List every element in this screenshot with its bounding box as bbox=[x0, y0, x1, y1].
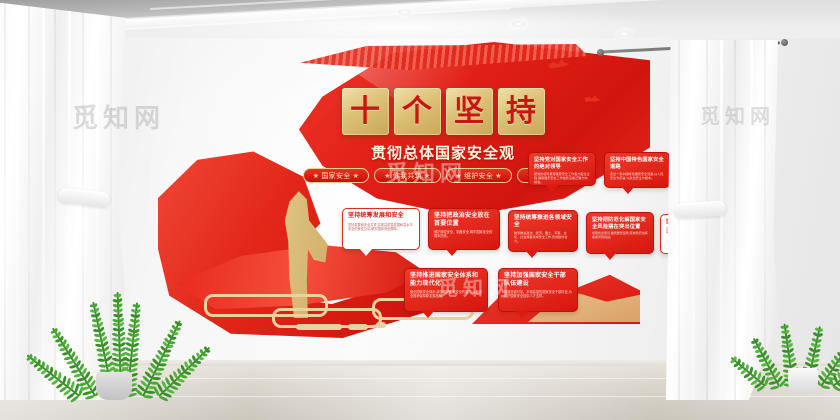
fern-leaf bbox=[811, 363, 818, 367]
fern-leaf bbox=[835, 364, 840, 368]
card-pointer bbox=[545, 184, 559, 192]
card-title: 坚持把政治安全放在首要位置 bbox=[434, 213, 494, 228]
fern-leaf bbox=[136, 304, 141, 309]
title-plaque-2: 个 bbox=[394, 88, 441, 135]
fern-leaf bbox=[178, 323, 183, 327]
fern-leaf bbox=[813, 353, 820, 357]
curtain-rod-finial bbox=[781, 39, 788, 46]
fern-leaf bbox=[749, 366, 753, 373]
adherence-card-9: 坚持推进国家安全体系和能力现代化 健全国家安全体系,增强维护国家安全的能力,以新… bbox=[404, 268, 488, 312]
title-plaque-4: 持 bbox=[498, 88, 545, 135]
fern-leaf bbox=[818, 333, 823, 337]
subtitle: 贯彻总体国家安全观 bbox=[334, 142, 552, 163]
card-body: 走出一条中国特色国家安全道路,以人民安全为宗旨,以政治安全为根本。 bbox=[610, 172, 664, 180]
card-title: 坚持统筹发展和安全 bbox=[348, 213, 414, 221]
fern-leaf bbox=[135, 313, 141, 318]
adherence-card-10: 坚持加强国家安全干部队伍建设 锻造忠诚可靠、本领高强的国家安全干部队伍,为维护国… bbox=[498, 268, 578, 312]
fern-leaf bbox=[741, 361, 745, 367]
card-title: 坚持推进国家安全体系和能力现代化 bbox=[410, 273, 482, 288]
fern-leaf bbox=[753, 369, 758, 377]
adherence-card-1: 坚持党对国家安全工作的绝对领导 把党的领导贯穿国家安全工作各方面全过程,确保国家… bbox=[528, 152, 596, 186]
adherence-card-6: 坚持统筹推进各领域安全 统筹推进政治、经济、国土、军事、文化、社会等各领域安全工… bbox=[508, 210, 578, 252]
fern-leaf bbox=[163, 354, 170, 357]
adherence-card-5: 坚持把政治安全放在首要位置 维护政权安全、制度安全,筑牢国家安全的根本防线。 bbox=[428, 208, 500, 250]
fern-leaf bbox=[33, 356, 37, 361]
badge-row: ★国家安全★ ★你我共筑★ ★维护安全★ ★人人有责★ bbox=[334, 168, 552, 183]
fern-leaf bbox=[206, 349, 211, 353]
fern-leaf bbox=[165, 350, 171, 353]
card-pointer bbox=[515, 310, 529, 318]
fern-leaf bbox=[172, 336, 178, 339]
adherence-card-2: 坚持中国特色国家安全道路 走出一条中国特色国家安全道路,以人民安全为宗旨,以政治… bbox=[604, 152, 670, 188]
fern-leaf bbox=[784, 325, 789, 330]
badge-3: ★维护安全★ bbox=[446, 168, 512, 183]
fern-leaf bbox=[766, 376, 774, 380]
badge-label: 你我共筑 bbox=[393, 173, 422, 180]
title-plaque-1: 十 bbox=[342, 88, 389, 135]
card-body: 增强忧患意识,做到居安思危,有效防范化解各类风险挑战。 bbox=[592, 232, 648, 240]
plant-pot-right bbox=[788, 368, 818, 394]
badge-label: 国家安全 bbox=[321, 173, 350, 180]
fern-leaf bbox=[814, 348, 820, 352]
wall-artwork: 十 个 坚 持 贯彻总体国家安全观 ★国家安全★ ★你我共筑★ ★维护安全★ ★… bbox=[176, 36, 706, 356]
card-body: 坚持发展和安全并重,实现高质量发展和高水平安全的良性互动,筑牢国家安全屏障。 bbox=[348, 223, 414, 231]
fern-leaf bbox=[169, 341, 175, 344]
fern-leaf bbox=[745, 364, 749, 370]
badge-label: 维护安全 bbox=[464, 173, 493, 180]
potted-fern-right bbox=[752, 258, 840, 386]
title-char-1: 十 bbox=[350, 97, 380, 127]
card-pointer bbox=[445, 248, 459, 256]
card-body: 维护政权安全、制度安全,筑牢国家安全的根本防线。 bbox=[434, 230, 494, 238]
card-body: 把党的领导贯穿国家安全工作各方面全过程,确保国家安全工作始终沿着正确方向前进。 bbox=[534, 172, 590, 184]
fern-leaf bbox=[154, 372, 162, 376]
card-body: 健全国家安全体系,增强维护国家安全的能力,以新安全格局保障新发展格局。 bbox=[410, 290, 482, 298]
fern-leaf bbox=[135, 309, 141, 314]
card-title: 坚持加强国家安全干部队伍建设 bbox=[504, 273, 572, 288]
card-pointer bbox=[603, 252, 617, 260]
cloud-dot-icon bbox=[296, 324, 342, 330]
card-body: 统筹推进政治、经济、国土、军事、文化、社会等各领域安全工作,形成整体合力。 bbox=[514, 231, 572, 243]
badge-1: ★国家安全★ bbox=[303, 168, 369, 183]
adherence-card-4: 坚持统筹发展和安全 坚持发展和安全并重,实现高质量发展和高水平安全的良性互动,筑… bbox=[342, 208, 420, 250]
fern-leaf bbox=[174, 332, 179, 335]
fern-leaf bbox=[117, 293, 122, 298]
fern-leaf bbox=[29, 353, 33, 358]
fern-leaf bbox=[161, 359, 168, 362]
card-title: 坚持统筹推进各领域安全 bbox=[514, 215, 572, 229]
curtain-rod-finial bbox=[597, 49, 604, 56]
fern-leaf bbox=[156, 368, 164, 372]
card-title: 坚持中国特色国家安全道路 bbox=[610, 157, 664, 170]
card-pointer bbox=[621, 186, 635, 194]
cloud-dot-icon bbox=[348, 324, 368, 330]
card-title: 坚持把防范化解国家安全风险摆在突出位置 bbox=[592, 217, 648, 230]
downlight bbox=[398, 9, 411, 15]
downlight bbox=[512, 21, 525, 27]
fern-leaf bbox=[734, 356, 737, 361]
fern-leaf bbox=[202, 353, 208, 357]
title-char-2: 个 bbox=[402, 97, 432, 127]
cloud-dot-icon bbox=[376, 322, 386, 328]
culture-wall-mockup: 十 个 坚 持 贯彻总体国家安全观 ★国家安全★ ★你我共筑★ ★维护安全★ ★… bbox=[0, 0, 840, 420]
fern-leaf bbox=[152, 377, 161, 381]
card-pointer bbox=[421, 310, 435, 318]
adherence-card-7: 坚持把防范化解国家安全风险摆在突出位置 增强忧患意识,做到居安思危,有效防范化解… bbox=[586, 212, 654, 254]
title-char-4: 持 bbox=[506, 97, 536, 127]
fern-leaf bbox=[158, 363, 166, 366]
fern-leaf bbox=[816, 338, 822, 342]
card-pointer bbox=[525, 250, 539, 258]
fern-leaf bbox=[117, 298, 123, 303]
card-pointer bbox=[359, 248, 373, 256]
fern-leaf bbox=[812, 358, 819, 362]
fern-leaf bbox=[134, 318, 140, 323]
plant-pot-left bbox=[96, 372, 132, 400]
fern-leaf bbox=[117, 303, 123, 308]
card-title: 坚持党对国家安全工作的绝对领导 bbox=[534, 157, 590, 170]
title-char-3: 坚 bbox=[454, 97, 484, 127]
title-plaques: 十 个 坚 持 bbox=[334, 88, 552, 135]
title-block: 十 个 坚 持 贯彻总体国家安全观 ★国家安全★ ★你我共筑★ ★维护安全★ ★… bbox=[334, 88, 552, 183]
fern-leaf bbox=[819, 328, 824, 332]
fern-leaf bbox=[167, 345, 173, 348]
title-plaque-3: 坚 bbox=[446, 88, 493, 135]
fern-leaf bbox=[737, 359, 741, 364]
badge-2: ★你我共筑★ bbox=[374, 168, 440, 183]
card-body: 锻造忠诚可靠、本领高强的国家安全干部队伍,为维护国家安全提供人才支撑。 bbox=[504, 290, 572, 298]
fern-leaf bbox=[768, 380, 777, 384]
fern-leaf bbox=[815, 343, 821, 347]
fern-leaf bbox=[176, 327, 181, 331]
